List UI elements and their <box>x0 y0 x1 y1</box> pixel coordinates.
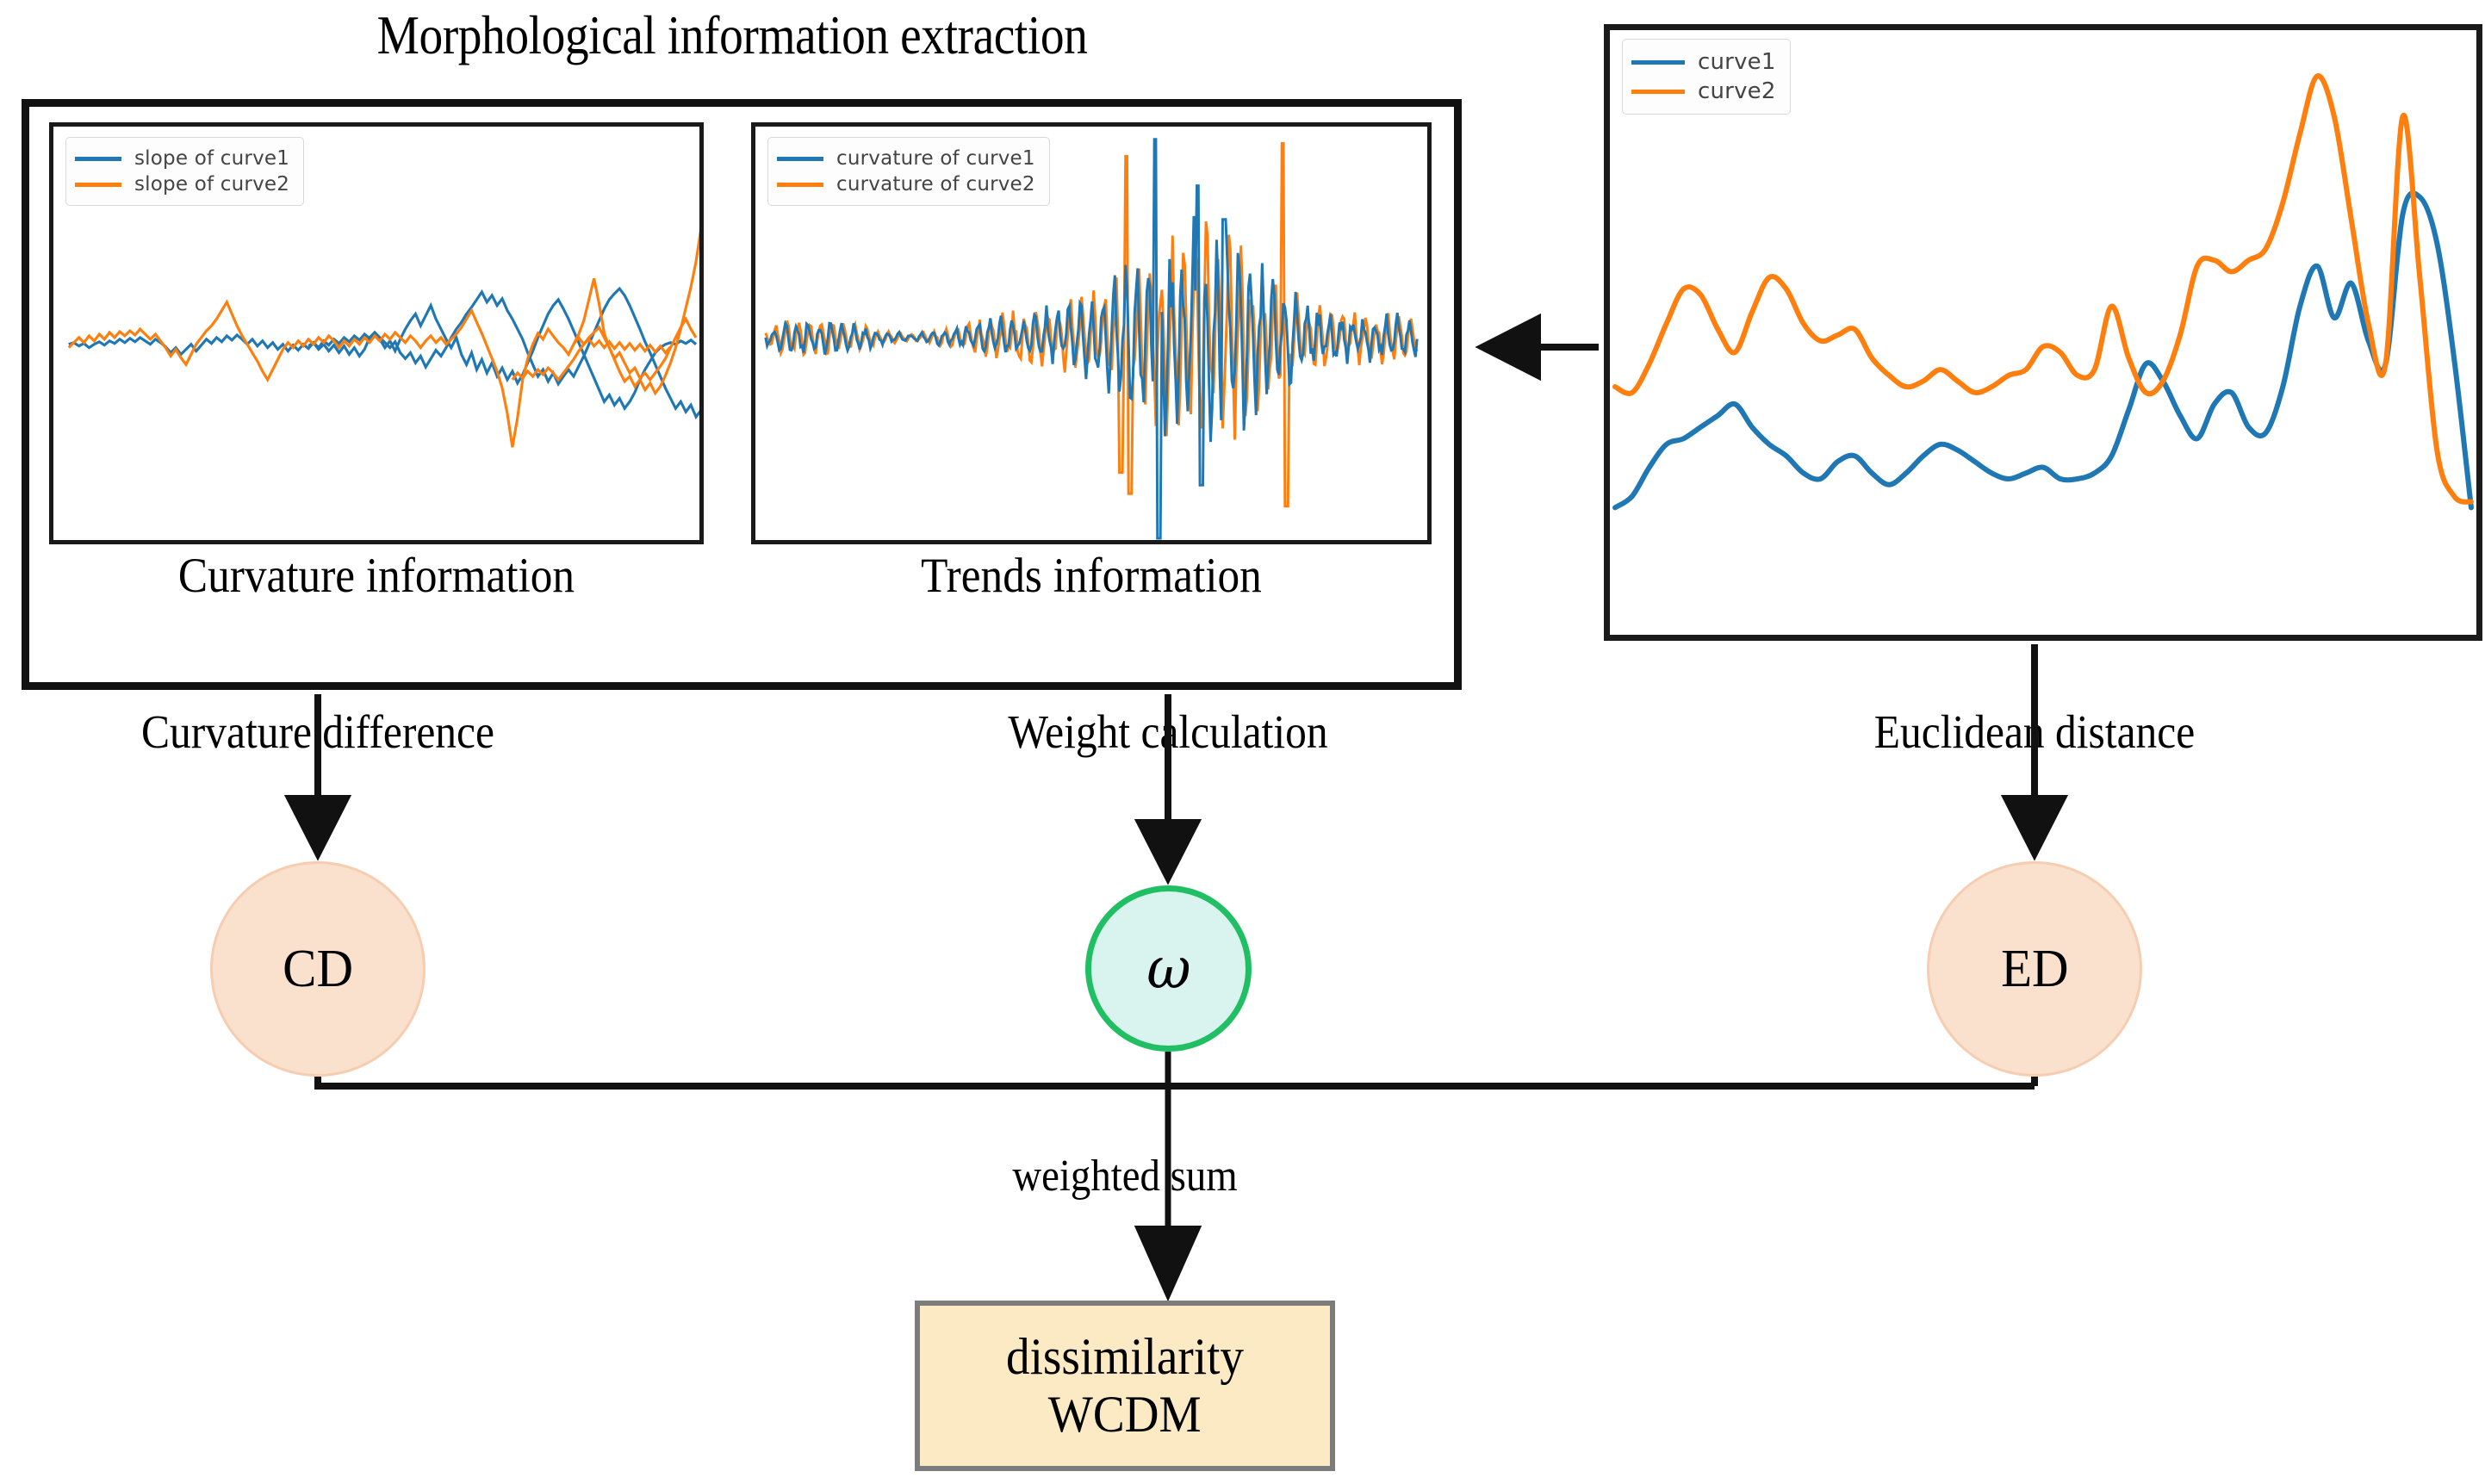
curvature-chart-legend: curvature of curve1 curvature of curve2 <box>767 137 1050 206</box>
node-ed-label: ED <box>2001 939 2069 1000</box>
label-curvature-difference: Curvature difference <box>32 708 604 755</box>
diagram-canvas: Morphological information extraction slo… <box>0 0 2485 1484</box>
legend-entry: curvature of curve2 <box>777 171 1035 197</box>
node-omega[interactable]: ω <box>1085 885 1252 1052</box>
raw-curves-plot <box>1610 30 2476 635</box>
slope-chart-panel: slope of curve1 slope of curve2 <box>49 122 704 544</box>
raw-curves-chart-panel: curve1 curve2 <box>1604 24 2482 641</box>
raw-curves-legend: curve1 curve2 <box>1622 39 1791 115</box>
curvature-chart-panel: curvature of curve1 curvature of curve2 <box>751 122 1432 544</box>
label-euclidean-distance: Euclidean distance <box>1779 708 2290 755</box>
caption-curvature-information: Curvature information <box>82 551 671 600</box>
legend-swatch-icon <box>75 183 121 187</box>
legend-swatch-icon <box>777 183 823 187</box>
slope-chart-legend: slope of curve1 slope of curve2 <box>65 137 304 206</box>
node-omega-label: ω <box>1146 935 1190 1002</box>
legend-entry: curvature of curve1 <box>777 146 1035 171</box>
legend-entry: curve1 <box>1631 47 1776 77</box>
legend-swatch-icon <box>1631 60 1685 65</box>
label-weight-calculation: Weight calculation <box>897 708 1439 755</box>
node-cd-label: CD <box>283 939 353 1000</box>
legend-entry: curve2 <box>1631 77 1776 106</box>
output-label-line1: dissimilarity <box>1006 1328 1244 1386</box>
legend-entry: slope of curve2 <box>75 171 289 197</box>
wire-cd-to-bus <box>318 1077 2035 1086</box>
legend-swatch-icon <box>777 157 823 161</box>
node-output-wcdm[interactable]: dissimilarity WCDM <box>915 1301 1335 1471</box>
page-title: Morphological information extraction <box>88 7 1376 64</box>
legend-entry: slope of curve1 <box>75 146 289 171</box>
label-weighted-sum: weighted sum <box>954 1154 1295 1199</box>
node-ed[interactable]: ED <box>1927 861 2142 1077</box>
node-cd[interactable]: CD <box>210 861 426 1077</box>
caption-trends-information: Trends information <box>786 551 1398 600</box>
output-label-line2: WCDM <box>1048 1386 1202 1444</box>
legend-swatch-icon <box>1631 90 1685 94</box>
legend-swatch-icon <box>75 157 121 161</box>
